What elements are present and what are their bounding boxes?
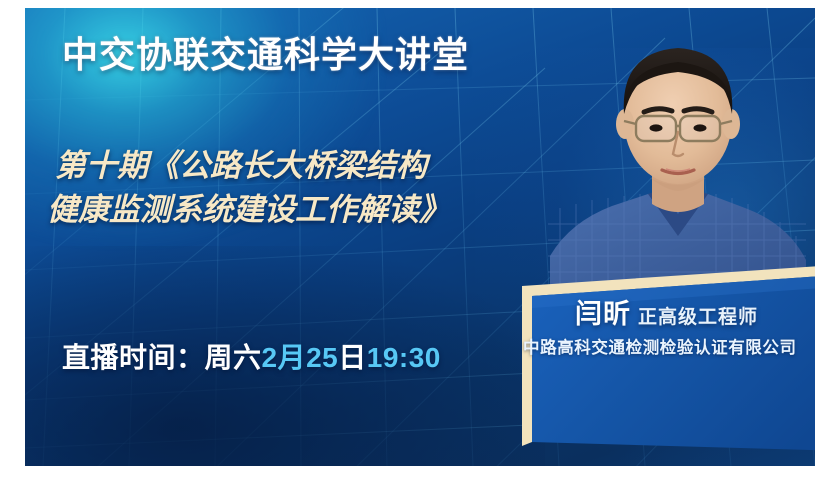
live-time-weekday: 周六 — [205, 342, 262, 373]
speaker-name-row: 闫昕正高级工程师 — [575, 292, 758, 331]
speaker-name: 闫昕 — [575, 299, 631, 329]
speaker-panel-text: 闫昕正高级工程师 中路高科交通检测检验认证有限公司 — [480, 256, 815, 466]
live-time-date-unit: 日 — [338, 342, 367, 373]
speaker-info-panel: 闫昕正高级工程师 中路高科交通检测检验认证有限公司 — [480, 256, 815, 466]
subtitle-line-2: 健康监测系统建设工作解读》 — [47, 188, 585, 232]
main-title: 中交协联交通科学大讲堂 — [62, 32, 469, 77]
speaker-company: 中路高科交通检测检验认证有限公司 — [523, 334, 797, 358]
live-time-date: 2月25 — [262, 342, 339, 373]
speaker-role: 正高级工程师 — [638, 307, 758, 328]
subtitle: 第十期《公路长大桥梁结构 健康监测系统建设工作解读》 — [55, 144, 585, 232]
subtitle-line-1: 第十期《公路长大桥梁结构 — [55, 148, 427, 183]
live-time-row: 直播时间：周六2月25日19:30 — [62, 336, 441, 376]
live-time-clock: 19:30 — [367, 342, 441, 373]
live-time-label: 直播时间： — [62, 342, 205, 373]
poster-root: 中交协联交通科学大讲堂 第十期《公路长大桥梁结构 健康监测系统建设工作解读》 直… — [0, 0, 840, 480]
poster-canvas: 中交协联交通科学大讲堂 第十期《公路长大桥梁结构 健康监测系统建设工作解读》 直… — [25, 8, 815, 466]
